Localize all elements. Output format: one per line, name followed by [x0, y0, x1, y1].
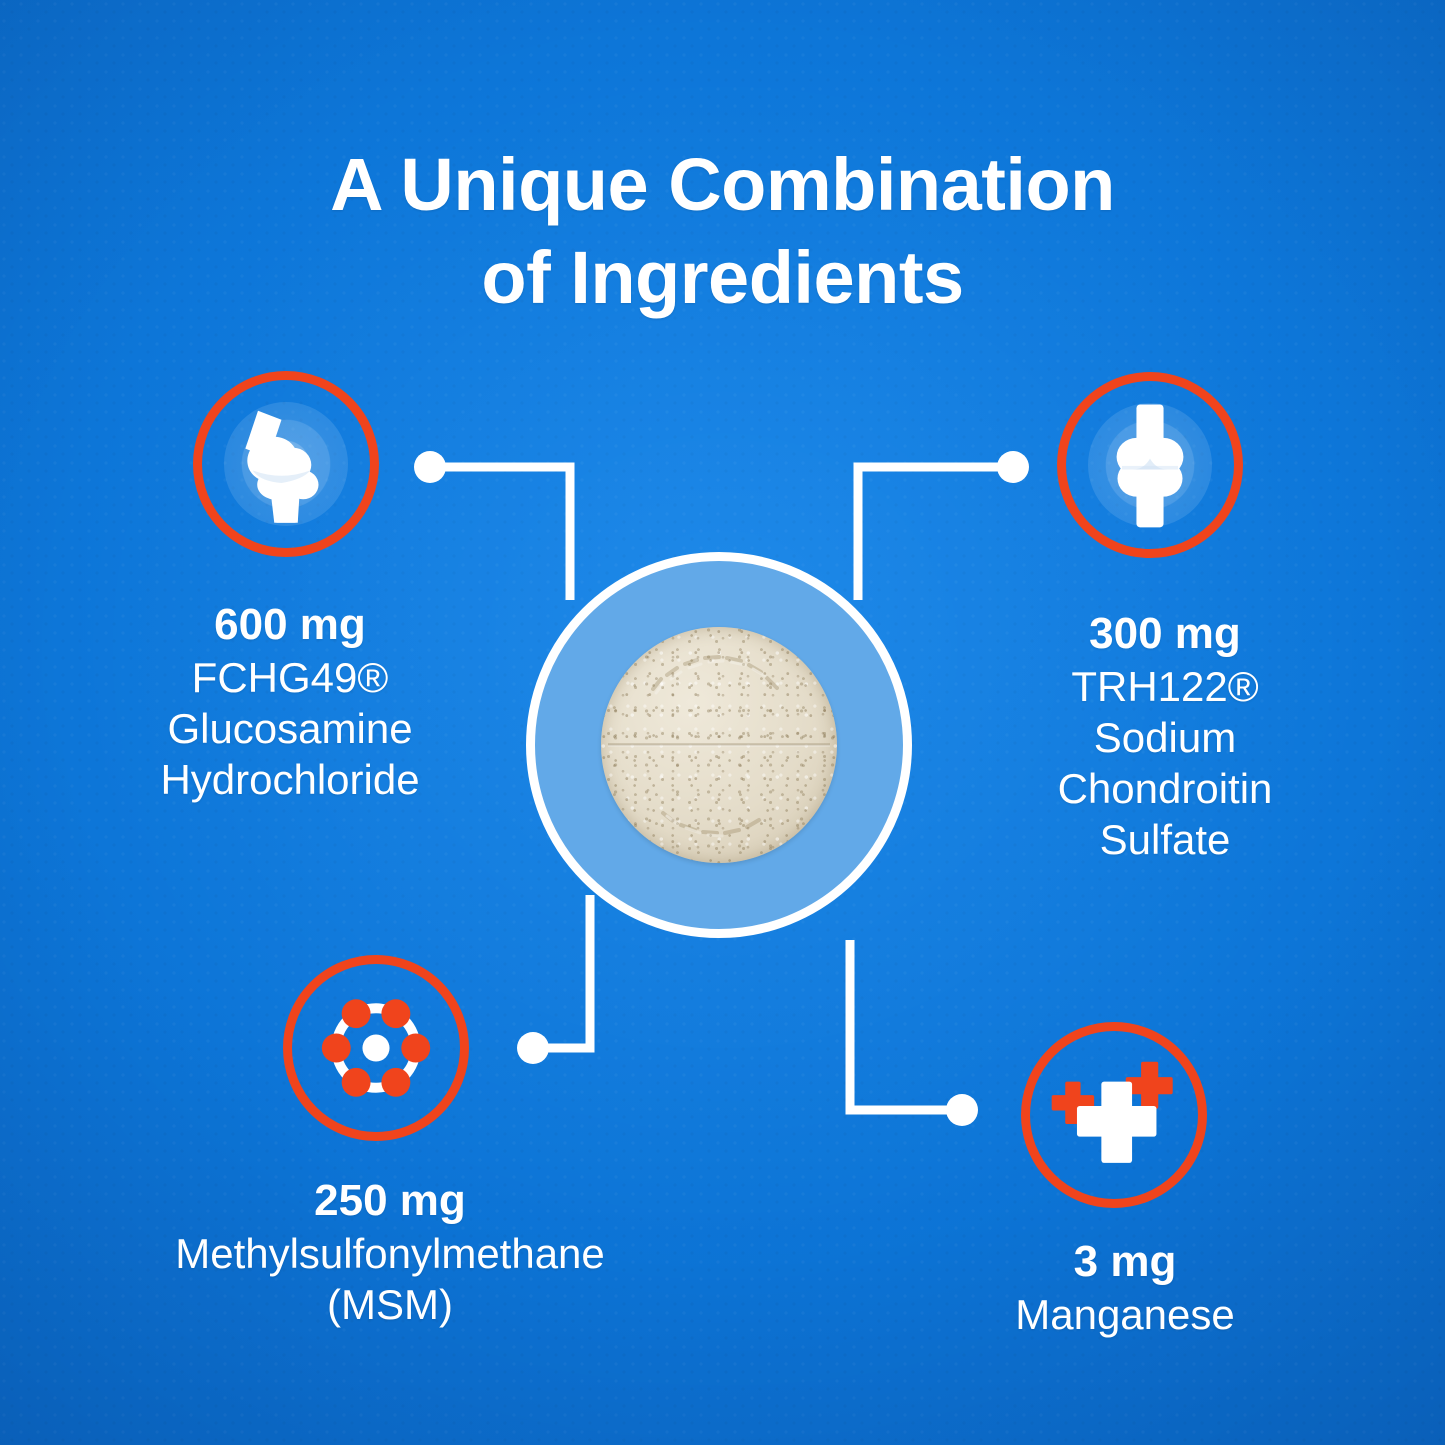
medical-cross-icon — [1030, 1031, 1198, 1199]
connector-dot-chondroitin — [997, 451, 1029, 483]
ingredient-label-glucosamine: 600 mg FCHG49® Glucosamine Hydrochloride — [60, 598, 520, 805]
ingredient-line: TRH122® — [1000, 661, 1330, 712]
ingredient-line: Hydrochloride — [60, 754, 520, 805]
ingredient-label-manganese: 3 mg Manganese — [960, 1235, 1290, 1340]
dose-manganese: 3 mg — [960, 1235, 1290, 1289]
icon-badge-glucosamine — [193, 371, 379, 557]
connector-manganese — [850, 940, 962, 1110]
infographic-canvas: A Unique Combination of Ingredients — [0, 0, 1445, 1445]
ingredient-line: (MSM) — [105, 1279, 675, 1330]
tablet-image — [601, 627, 837, 863]
straight-joint-bone-icon — [1066, 381, 1234, 549]
ingredient-line: FCHG49® — [60, 652, 520, 703]
dose-msm: 250 mg — [105, 1174, 675, 1228]
dose-chondroitin: 300 mg — [1000, 607, 1330, 661]
knee-joint-bone-icon — [202, 380, 370, 548]
icon-badge-chondroitin — [1057, 372, 1243, 558]
icon-badge-msm — [283, 955, 469, 1141]
ingredient-line: Methylsulfonylmethane — [105, 1228, 675, 1279]
icon-badge-manganese — [1021, 1022, 1207, 1208]
connector-dot-manganese — [946, 1094, 978, 1126]
ingredient-label-msm: 250 mg Methylsulfonylmethane (MSM) — [105, 1174, 675, 1330]
molecule-icon — [292, 964, 460, 1132]
title-line-2: of Ingredients — [0, 231, 1445, 324]
ingredient-line: Manganese — [960, 1289, 1290, 1340]
ingredient-line: Chondroitin — [1000, 763, 1330, 814]
ingredient-line: Glucosamine — [60, 703, 520, 754]
ingredient-line: Sodium — [1000, 712, 1330, 763]
ingredient-label-chondroitin: 300 mg TRH122® Sodium Chondroitin Sulfat… — [1000, 607, 1330, 866]
title-line-1: A Unique Combination — [0, 138, 1445, 231]
connector-dot-msm — [517, 1032, 549, 1064]
page-title: A Unique Combination of Ingredients — [0, 138, 1445, 324]
center-tablet — [526, 552, 912, 938]
dose-glucosamine: 600 mg — [60, 598, 520, 652]
connector-dot-glucosamine — [414, 451, 446, 483]
ingredient-line: Sulfate — [1000, 814, 1330, 865]
tablet-score-line — [608, 744, 830, 747]
